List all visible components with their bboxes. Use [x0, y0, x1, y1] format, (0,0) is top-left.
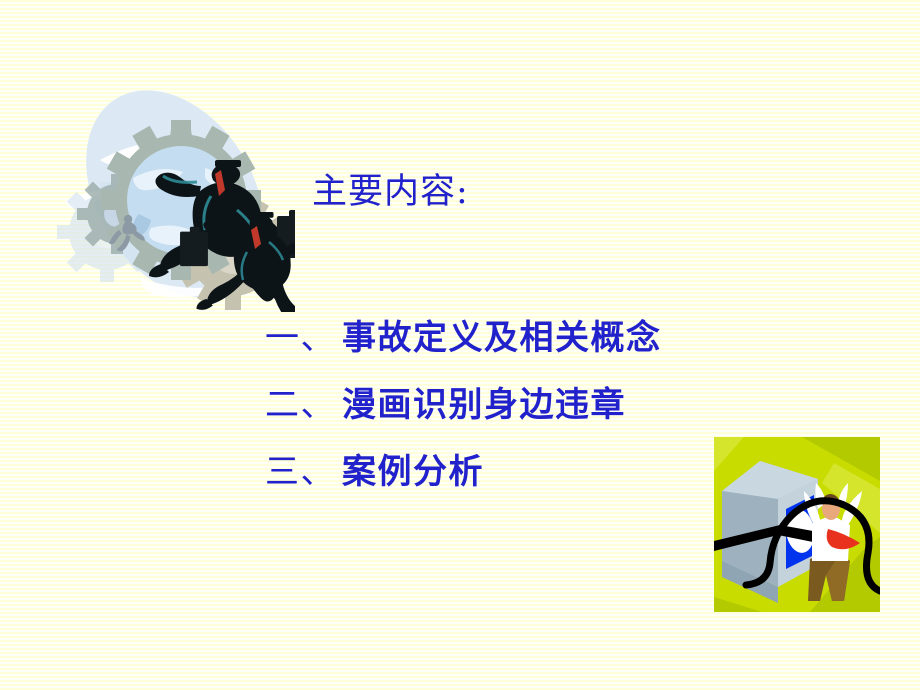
person-monitor-cables-clipart	[714, 437, 880, 612]
list-item[interactable]: 一、事故定义及相关概念	[265, 305, 735, 372]
agenda-list: 一、事故定义及相关概念 二、漫画识别身边违章 三、案例分析	[265, 305, 735, 506]
list-item-label: 漫画识别身边违章	[342, 385, 626, 425]
gears-globe-businessmen-clipart	[55, 82, 295, 312]
list-item[interactable]: 二、漫画识别身边违章	[265, 372, 735, 439]
list-item-label: 事故定义及相关概念	[342, 318, 662, 358]
list-item[interactable]: 三、案例分析	[265, 439, 735, 506]
list-item-label: 案例分析	[342, 452, 484, 492]
list-item-number: 二、	[265, 385, 336, 425]
list-item-number: 三、	[265, 452, 336, 492]
list-item-number: 一、	[265, 318, 336, 358]
page-title: 主要内容:	[312, 168, 469, 216]
presentation-slide: 主要内容: 一、事故定义及相关概念 二、漫画识别身边违章 三、案例分析	[0, 0, 920, 690]
